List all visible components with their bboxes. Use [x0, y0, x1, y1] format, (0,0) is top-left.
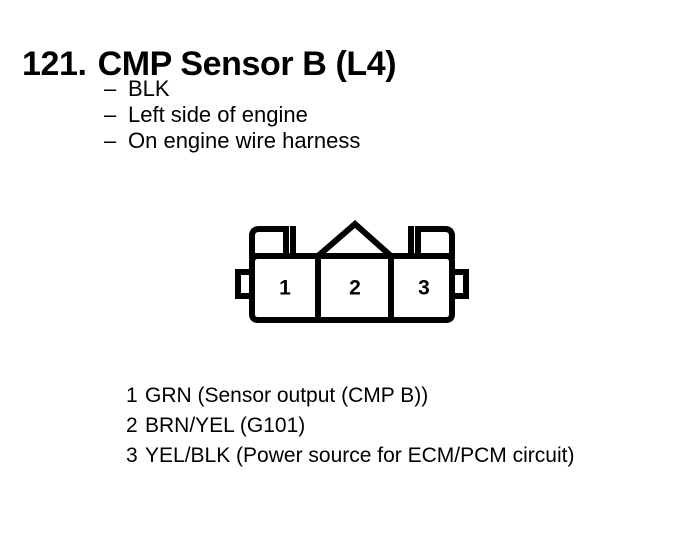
list-item: –BLK [104, 76, 360, 102]
pin-legend-description: GRN (Sensor output (CMP B)) [145, 384, 428, 407]
attribute-list: –BLK –Left side of engine –On engine wir… [104, 76, 360, 154]
terminal-number-2: 2 [349, 277, 361, 300]
dash-bullet-icon: – [104, 76, 116, 102]
dash-bullet-icon: – [104, 102, 116, 128]
dash-bullet-icon: – [104, 128, 116, 154]
list-item: –On engine wire harness [104, 128, 360, 154]
terminal-number-1: 1 [279, 277, 291, 300]
left-upper-tab-shell [252, 229, 286, 256]
right-upper-tab-shell [418, 229, 452, 256]
list-item-label: Left side of engine [128, 102, 308, 127]
pin-legend: 1GRN (Sensor output (CMP B)) 2BRN/YEL (G… [126, 381, 574, 471]
connector-diagram: 1 2 3 [228, 214, 476, 334]
terminal-number-3: 3 [418, 277, 430, 300]
list-item: –Left side of engine [104, 102, 360, 128]
list-item-label: On engine wire harness [128, 128, 360, 153]
connector-drawing: 1 2 3 [228, 214, 476, 334]
pin-legend-row: 1GRN (Sensor output (CMP B)) [126, 381, 574, 411]
pin-legend-row: 3YEL/BLK (Power source for ECM/PCM circu… [126, 441, 574, 471]
list-item-label: BLK [128, 76, 170, 101]
pin-legend-number: 2 [126, 411, 145, 441]
pin-legend-number: 1 [126, 381, 145, 411]
center-locking-peak [318, 224, 391, 256]
page-title-number: 121. [22, 45, 87, 83]
pin-legend-number: 3 [126, 441, 145, 471]
pin-legend-row: 2BRN/YEL (G101) [126, 411, 574, 441]
pin-legend-description: YEL/BLK (Power source for ECM/PCM circui… [145, 444, 574, 467]
pin-legend-description: BRN/YEL (G101) [145, 414, 305, 437]
